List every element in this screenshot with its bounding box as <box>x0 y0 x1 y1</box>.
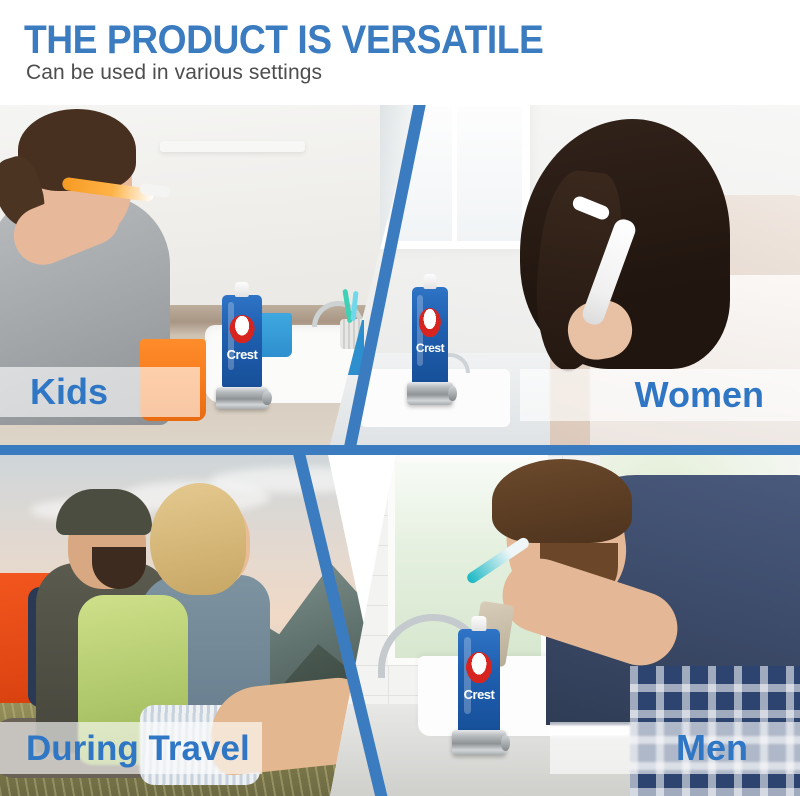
tube-logo <box>466 652 492 683</box>
header: THE PRODUCT IS VERSATILE Can be used in … <box>0 0 800 105</box>
caption-band-kids: Kids <box>0 367 200 417</box>
squeezer-knob <box>448 386 456 401</box>
toothpaste-tube: Crest <box>458 629 500 733</box>
page-subtitle: Can be used in various settings <box>26 61 322 85</box>
tube-brand-label: Crest <box>227 347 258 362</box>
tube-logo <box>230 315 255 343</box>
panel-caption-during-travel: During Travel <box>26 731 250 766</box>
man-hair <box>492 459 632 543</box>
tube-squeezer <box>407 382 453 405</box>
panel-caption-men: Men <box>676 730 748 766</box>
toothpaste-tube-squeezer: Crest <box>412 309 448 405</box>
horizontal-divider <box>0 445 800 455</box>
caption-band-women: Women <box>520 369 800 421</box>
tube-brand-label: Crest <box>464 687 495 702</box>
tube-squeezer <box>216 387 267 409</box>
toothpaste-tube: Crest <box>412 287 448 383</box>
window-mullion <box>452 105 457 249</box>
page-title: THE PRODUCT IS VERSATILE <box>24 18 543 63</box>
squeezer-knob <box>501 735 511 751</box>
woman-hair <box>150 483 246 595</box>
tube-logo <box>419 308 441 337</box>
panel-caption-kids: Kids <box>30 374 108 410</box>
toothpaste-tube: Crest <box>222 295 262 387</box>
tube-cap <box>235 282 249 297</box>
caption-band-men: Men <box>550 722 800 774</box>
squeezer-knob <box>262 391 271 405</box>
panel-row-bottom: During Travel <box>0 455 800 796</box>
tube-cap <box>424 274 437 289</box>
tube-brand-label: Crest <box>416 341 444 355</box>
tube-cap <box>471 616 486 631</box>
panel-caption-women: Women <box>635 377 764 413</box>
panel-row-top: Crest Kids <box>0 105 800 445</box>
panel-men[interactable]: Crest Men <box>330 455 800 796</box>
wall-shelf <box>160 141 305 152</box>
toothpaste-tube-squeezer: Crest <box>458 651 500 755</box>
caption-band-travel: During Travel <box>0 722 262 774</box>
tube-squeezer <box>452 730 506 755</box>
panel-grid: Crest Kids <box>0 105 800 796</box>
product-versatility-infographic: THE PRODUCT IS VERSATILE Can be used in … <box>0 0 800 796</box>
toothpaste-tube-squeezer: Crest <box>222 317 262 409</box>
